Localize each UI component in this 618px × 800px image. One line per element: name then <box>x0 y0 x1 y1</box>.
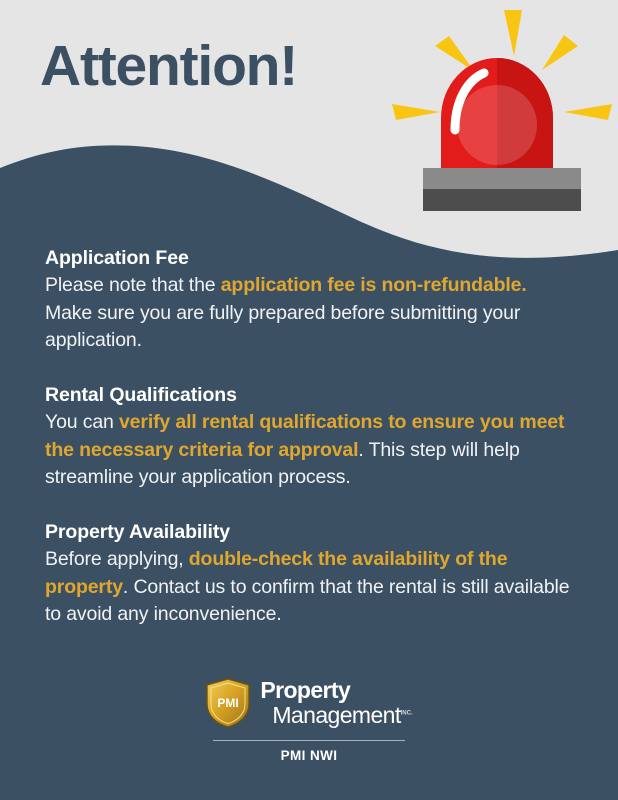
text-run: Make sure you are fully prepared before … <box>45 302 520 352</box>
brand-line-2: ManagementINC. <box>260 704 412 727</box>
page-title: Attention! <box>40 38 297 95</box>
pmi-logo: PMI Property ManagementINC. <box>205 678 412 728</box>
brand-line-2-text: Management <box>272 702 400 728</box>
brand-line-1: Property <box>260 679 412 702</box>
brand-trademark: INC. <box>401 710 413 716</box>
section-title: Rental Qualifications <box>45 383 570 408</box>
section-title: Application Fee <box>45 246 570 271</box>
section-title: Property Availability <box>45 520 570 545</box>
section-body: You can verify all rental qualifications… <box>45 409 570 492</box>
shield-label: PMI <box>218 696 239 710</box>
emergency-siren-icon <box>392 8 612 213</box>
logo-divider <box>213 740 405 741</box>
section-property-availability: Property Availability Before applying, d… <box>45 520 570 629</box>
highlight-run: application fee is non-refundable. <box>221 274 527 296</box>
text-run: Before applying, <box>45 548 189 570</box>
content-sections: Application Fee Please note that the app… <box>45 246 570 629</box>
office-name: PMI NWI <box>0 748 618 763</box>
text-run: You can <box>45 411 119 433</box>
section-application-fee: Application Fee Please note that the app… <box>45 246 570 355</box>
pmi-shield-icon: PMI <box>205 678 251 728</box>
text-run: . Contact us to confirm that the rental … <box>45 576 569 626</box>
section-body: Before applying, double-check the availa… <box>45 546 570 629</box>
brand-wordmark: Property ManagementINC. <box>260 679 412 727</box>
section-rental-qualifications: Rental Qualifications You can verify all… <box>45 383 570 492</box>
text-run: Please note that the <box>45 274 221 296</box>
attention-poster: Attention! Application Fee Please note t… <box>0 0 618 800</box>
footer-branding: PMI Property ManagementINC. PMI NWI <box>0 678 618 763</box>
section-body: Please note that the application fee is … <box>45 272 570 355</box>
